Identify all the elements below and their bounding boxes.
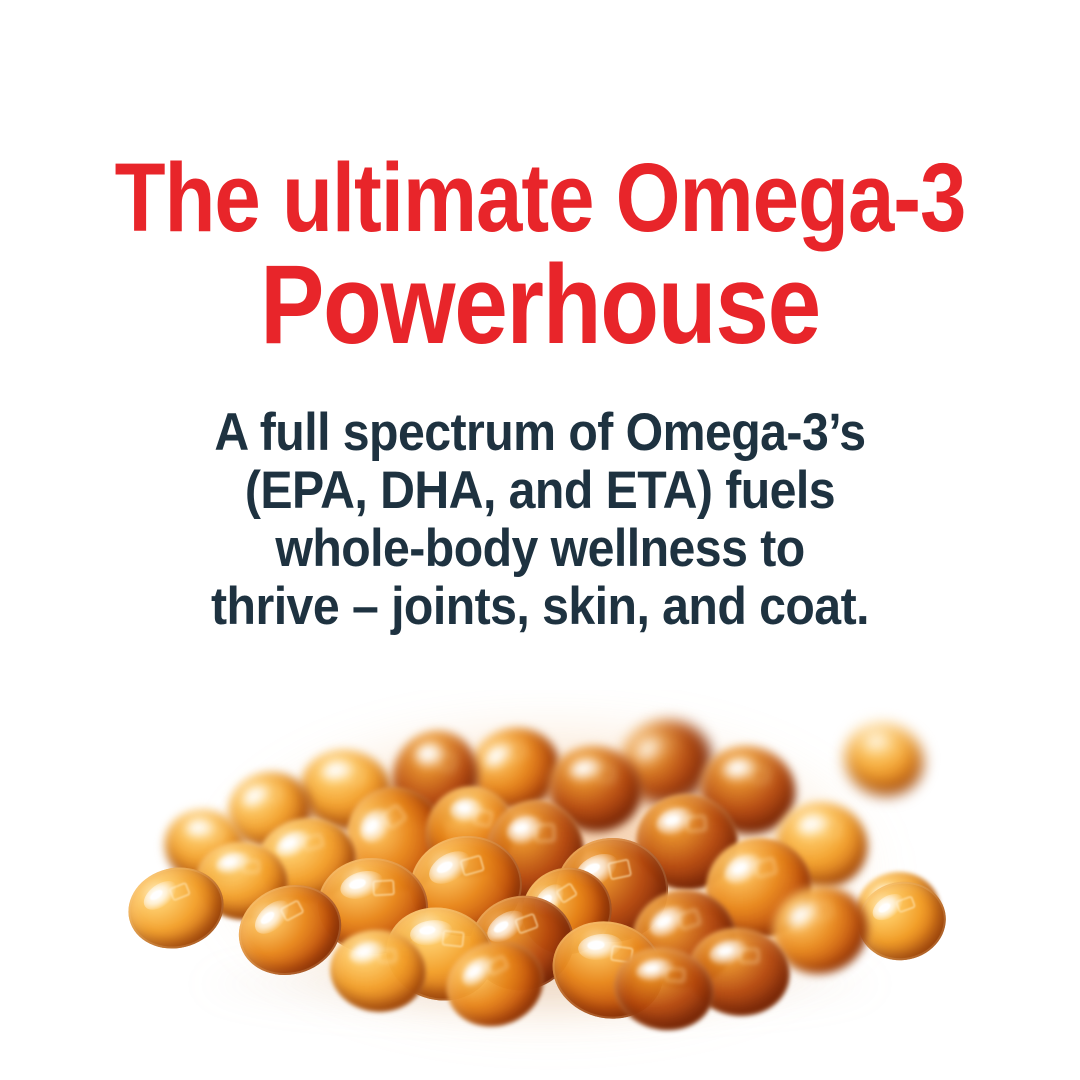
headline-line-2: Powerhouse [76,249,1005,361]
body-copy-line-2: (EPA, DHA, and ETA) fuels [94,462,986,520]
body-copy-line-4: thrive – joints, skin, and coat. [94,578,986,636]
headline-block: The ultimate Omega-3 Powerhouse [0,150,1080,361]
body-copy: A full spectrum of Omega-3’s (EPA, DHA, … [50,404,1030,636]
softgel-capsule [836,714,933,805]
product-photo-softgel-capsules [0,690,1080,1080]
body-copy-line-3: whole-body wellness to [94,520,986,578]
body-copy-line-1: A full spectrum of Omega-3’s [94,404,986,462]
capsule-rim-light [836,714,933,805]
poster-canvas: The ultimate Omega-3 Powerhouse A full s… [0,0,1080,1080]
headline-line-1: The ultimate Omega-3 [76,150,1005,245]
